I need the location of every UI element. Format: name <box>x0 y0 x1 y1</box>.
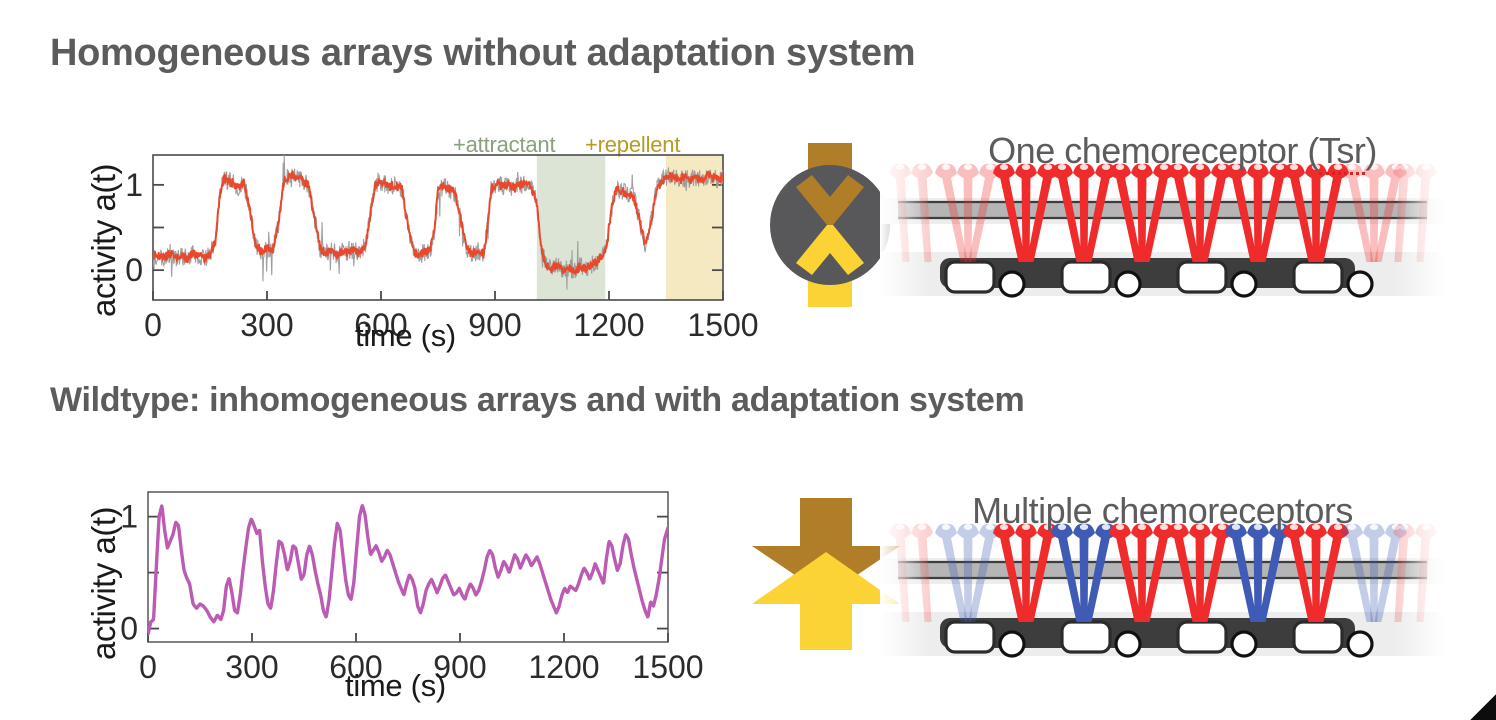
y-tick-label: 1 <box>120 499 138 535</box>
chea-domain <box>1116 272 1140 296</box>
x-tick-label: 0 <box>144 307 162 343</box>
x-tick-label: 900 <box>468 307 521 343</box>
x-tick-label: 1200 <box>528 649 599 685</box>
plot-frame <box>148 492 668 642</box>
chew-unit <box>1178 262 1226 292</box>
array-top-caption-prefix: One chemoreceptor ( <box>988 130 1319 171</box>
annotation-band-0 <box>537 155 605 300</box>
chea-domain <box>1348 272 1372 296</box>
array-top-caption: One chemoreceptor (Tsr) <box>880 130 1465 172</box>
up-arrow-yellow-icon <box>752 552 900 650</box>
trace-group <box>148 506 668 634</box>
figure-canvas: Homogeneous arrays without adaptation sy… <box>0 0 1496 720</box>
chew-unit <box>1062 262 1110 292</box>
chart-homogeneous-activity: activity a(t) +attractant +repellent 010… <box>55 125 735 360</box>
trace-group <box>153 155 723 290</box>
x-tick-label: 1500 <box>632 649 703 685</box>
panel-title-bottom: Wildtype: inhomogeneous arrays and with … <box>50 381 1024 420</box>
chew-unit <box>1294 262 1342 292</box>
x-tick-label: 300 <box>240 307 293 343</box>
receptor-array-inhomogeneous: Multiple chemoreceptors <box>880 490 1445 665</box>
chew-unit <box>1062 622 1110 652</box>
membrane-band <box>898 202 1427 218</box>
activity-trace <box>148 506 668 634</box>
x-tick-label: 1200 <box>573 307 644 343</box>
receptor-array-homogeneous: One chemoreceptor (Tsr) <box>880 130 1445 310</box>
chea-domain <box>1232 272 1256 296</box>
chea-domain <box>1000 272 1024 296</box>
y-tick-label: 0 <box>120 611 138 647</box>
chart-top-plot: 01030060090012001500 <box>55 125 745 325</box>
y-tick-label: 0 <box>125 252 143 288</box>
chart-top-xlabel: time (s) <box>355 318 456 354</box>
noise-trace <box>153 155 723 290</box>
chea-domain <box>1116 632 1140 656</box>
array-top-caption-suffix: ) <box>1365 130 1377 171</box>
activity-trace <box>153 171 723 274</box>
chew-unit <box>946 262 994 292</box>
chew-unit <box>946 622 994 652</box>
chea-domain <box>1000 632 1024 656</box>
chart-bottom-plot: 01030060090012001500 <box>55 470 745 670</box>
chart-wildtype-activity: activity a(t) 01030060090012001500 time … <box>55 470 735 710</box>
x-tick-label: 300 <box>225 649 278 685</box>
plot-frame <box>153 155 723 300</box>
array-top-caption-tsr: Tsr <box>1319 130 1366 175</box>
membrane-band <box>898 562 1427 578</box>
panel-title-top: Homogeneous arrays without adaptation sy… <box>50 32 915 75</box>
chea-domain <box>1348 632 1372 656</box>
chew-unit <box>1178 622 1226 652</box>
corner-artifact <box>1470 694 1496 720</box>
chart-bottom-xlabel: time (s) <box>345 668 446 704</box>
x-tick-label: 0 <box>139 649 157 685</box>
array-bottom-caption: Multiple chemoreceptors <box>880 490 1445 532</box>
y-tick-label: 1 <box>125 167 143 203</box>
chew-unit <box>1294 622 1342 652</box>
chea-domain <box>1232 632 1256 656</box>
